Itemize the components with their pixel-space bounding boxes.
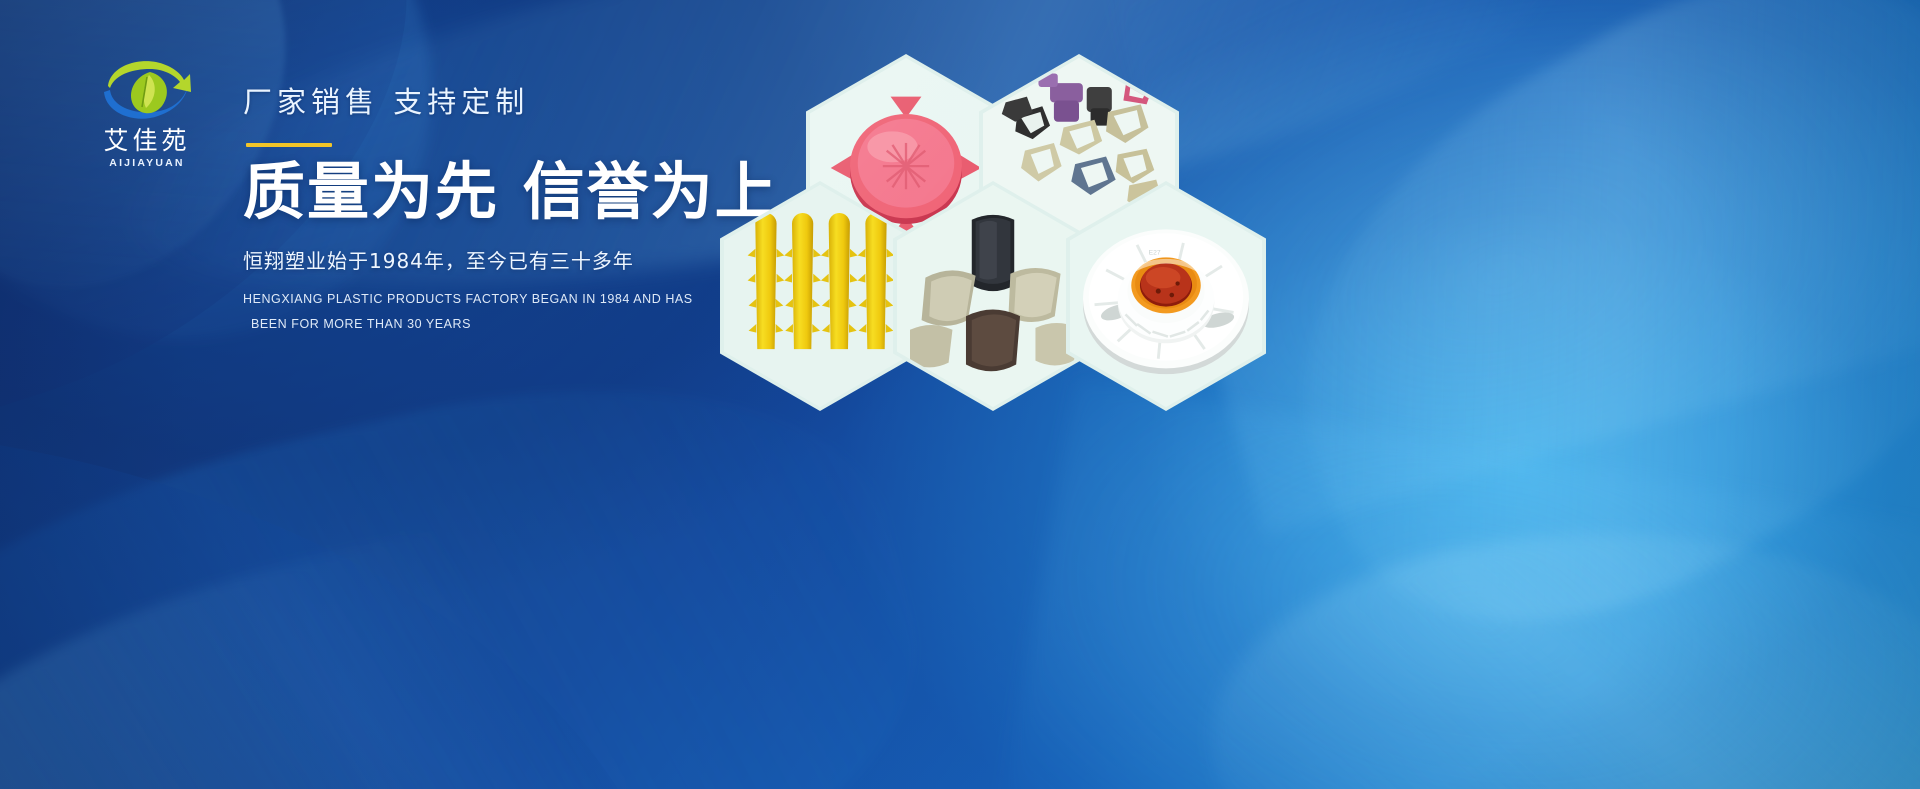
logo-chinese-name: 艾佳苑	[82, 128, 212, 153]
leaf-swoosh-logo-icon	[92, 52, 202, 124]
promo-banner: 艾佳苑 AIJIAYUAN 厂家销售 支持定制 质量为先 信誉为上 恒翔塑业始于…	[0, 0, 1920, 789]
svg-text:E27: E27	[1149, 249, 1161, 256]
logo-pinyin: AIJIAYUAN	[82, 157, 212, 169]
brand-logo[interactable]: 艾佳苑 AIJIAYUAN	[82, 52, 212, 172]
product-hex-cluster: E27	[806, 48, 1326, 368]
gold-divider	[246, 143, 332, 147]
